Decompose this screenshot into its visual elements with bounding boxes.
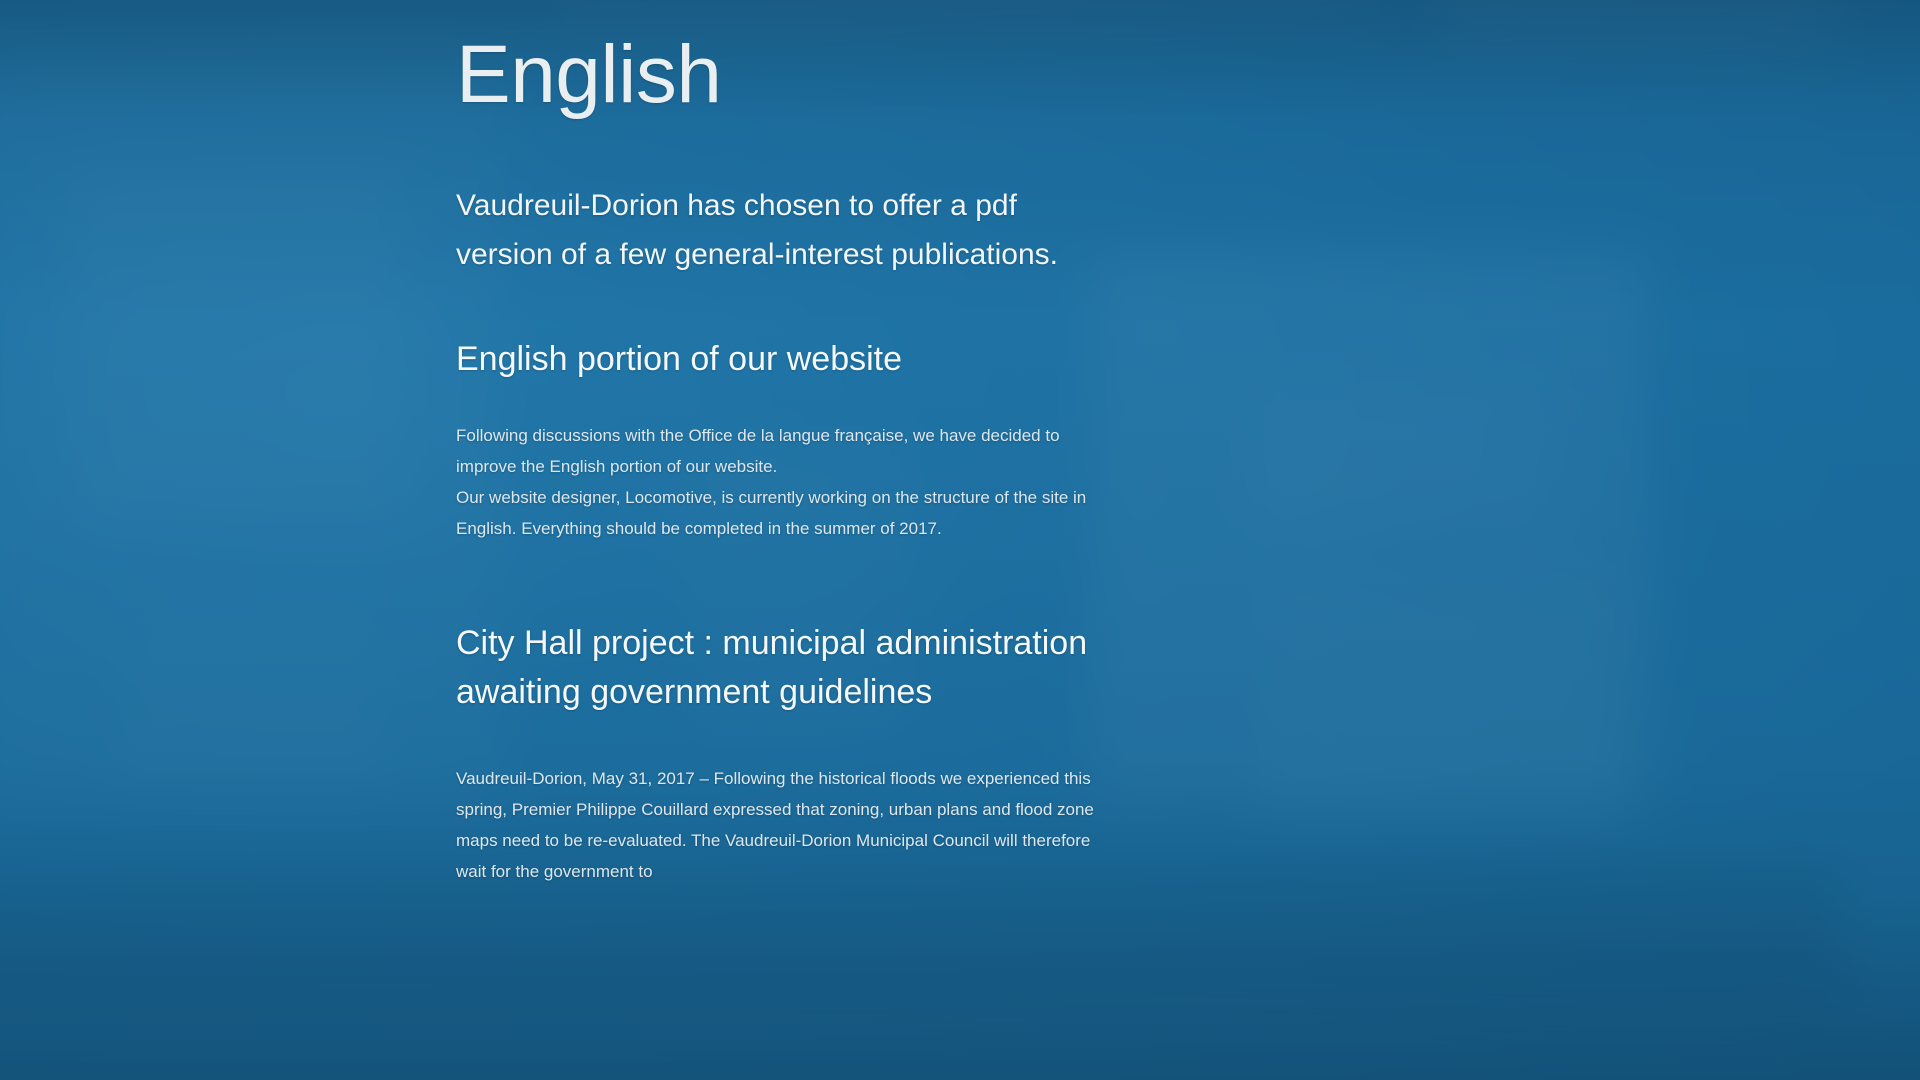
page-title: English bbox=[456, 34, 1920, 116]
section-heading-city-hall-project: City Hall project : municipal administra… bbox=[456, 619, 1156, 718]
section-heading-english-portion: English portion of our website bbox=[456, 337, 1156, 381]
paragraph: Our website designer, Locomotive, is cur… bbox=[456, 483, 1096, 545]
paragraph: Vaudreuil-Dorion, May 31, 2017 – Followi… bbox=[456, 764, 1096, 888]
section-body-city-hall-project: Vaudreuil-Dorion, May 31, 2017 – Followi… bbox=[456, 764, 1096, 888]
page-content: English Vaudreuil-Dorion has chosen to o… bbox=[0, 0, 1920, 1080]
section-body-english-portion: Following discussions with the Office de… bbox=[456, 421, 1096, 545]
paragraph: Following discussions with the Office de… bbox=[456, 421, 1096, 483]
lead-paragraph: Vaudreuil-Dorion has chosen to offer a p… bbox=[456, 182, 1116, 279]
